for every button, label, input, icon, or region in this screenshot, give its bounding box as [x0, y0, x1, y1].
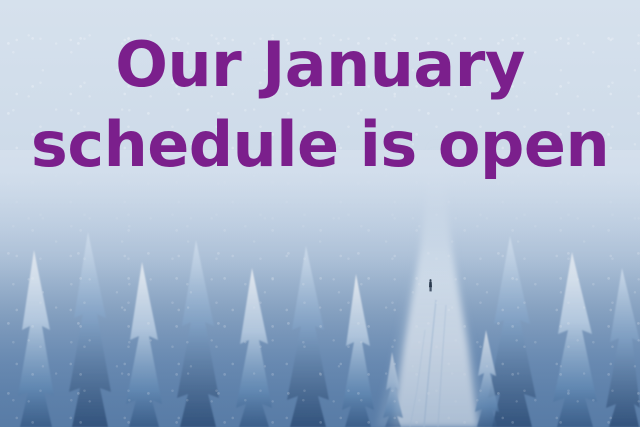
headline-line-1: Our January — [0, 34, 640, 96]
headline-line-2: schedule is open — [0, 114, 640, 176]
winter-promo-banner: Our January schedule is open — [0, 0, 640, 427]
headline: Our January schedule is open — [0, 34, 640, 176]
